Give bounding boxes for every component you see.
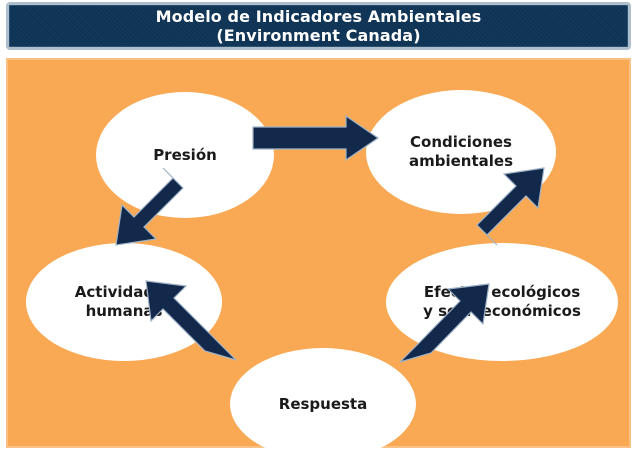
node-respuesta-label: Respuesta (279, 395, 367, 414)
node-condiciones-ambientales[interactable]: Condiciones ambientales (366, 90, 556, 214)
node-respuesta[interactable]: Respuesta (230, 348, 416, 460)
environmental-indicators-model-figure: Modelo de Indicadores Ambientales (Envir… (0, 0, 637, 450)
node-presion-label: Presión (153, 146, 217, 165)
node-efectos-ecologicos-socioeconomicos[interactable]: Efectos ecológicos y socioeconómicos (386, 243, 618, 361)
figure-title: Modelo de Indicadores Ambientales (Envir… (156, 7, 482, 45)
figure-title-bar: Modelo de Indicadores Ambientales (Envir… (6, 2, 631, 50)
node-actividades-humanas-label: Actividades humanas (75, 283, 173, 321)
node-presion[interactable]: Presión (96, 92, 274, 218)
node-actividades-humanas[interactable]: Actividades humanas (26, 243, 222, 361)
diagram-panel: Presión Condiciones ambientales Efectos … (6, 58, 631, 448)
node-condiciones-ambientales-label: Condiciones ambientales (409, 133, 513, 171)
node-efectos-ecologicos-socioeconomicos-label: Efectos ecológicos y socioeconómicos (423, 283, 581, 321)
diagram-canvas: Presión Condiciones ambientales Efectos … (8, 60, 633, 450)
